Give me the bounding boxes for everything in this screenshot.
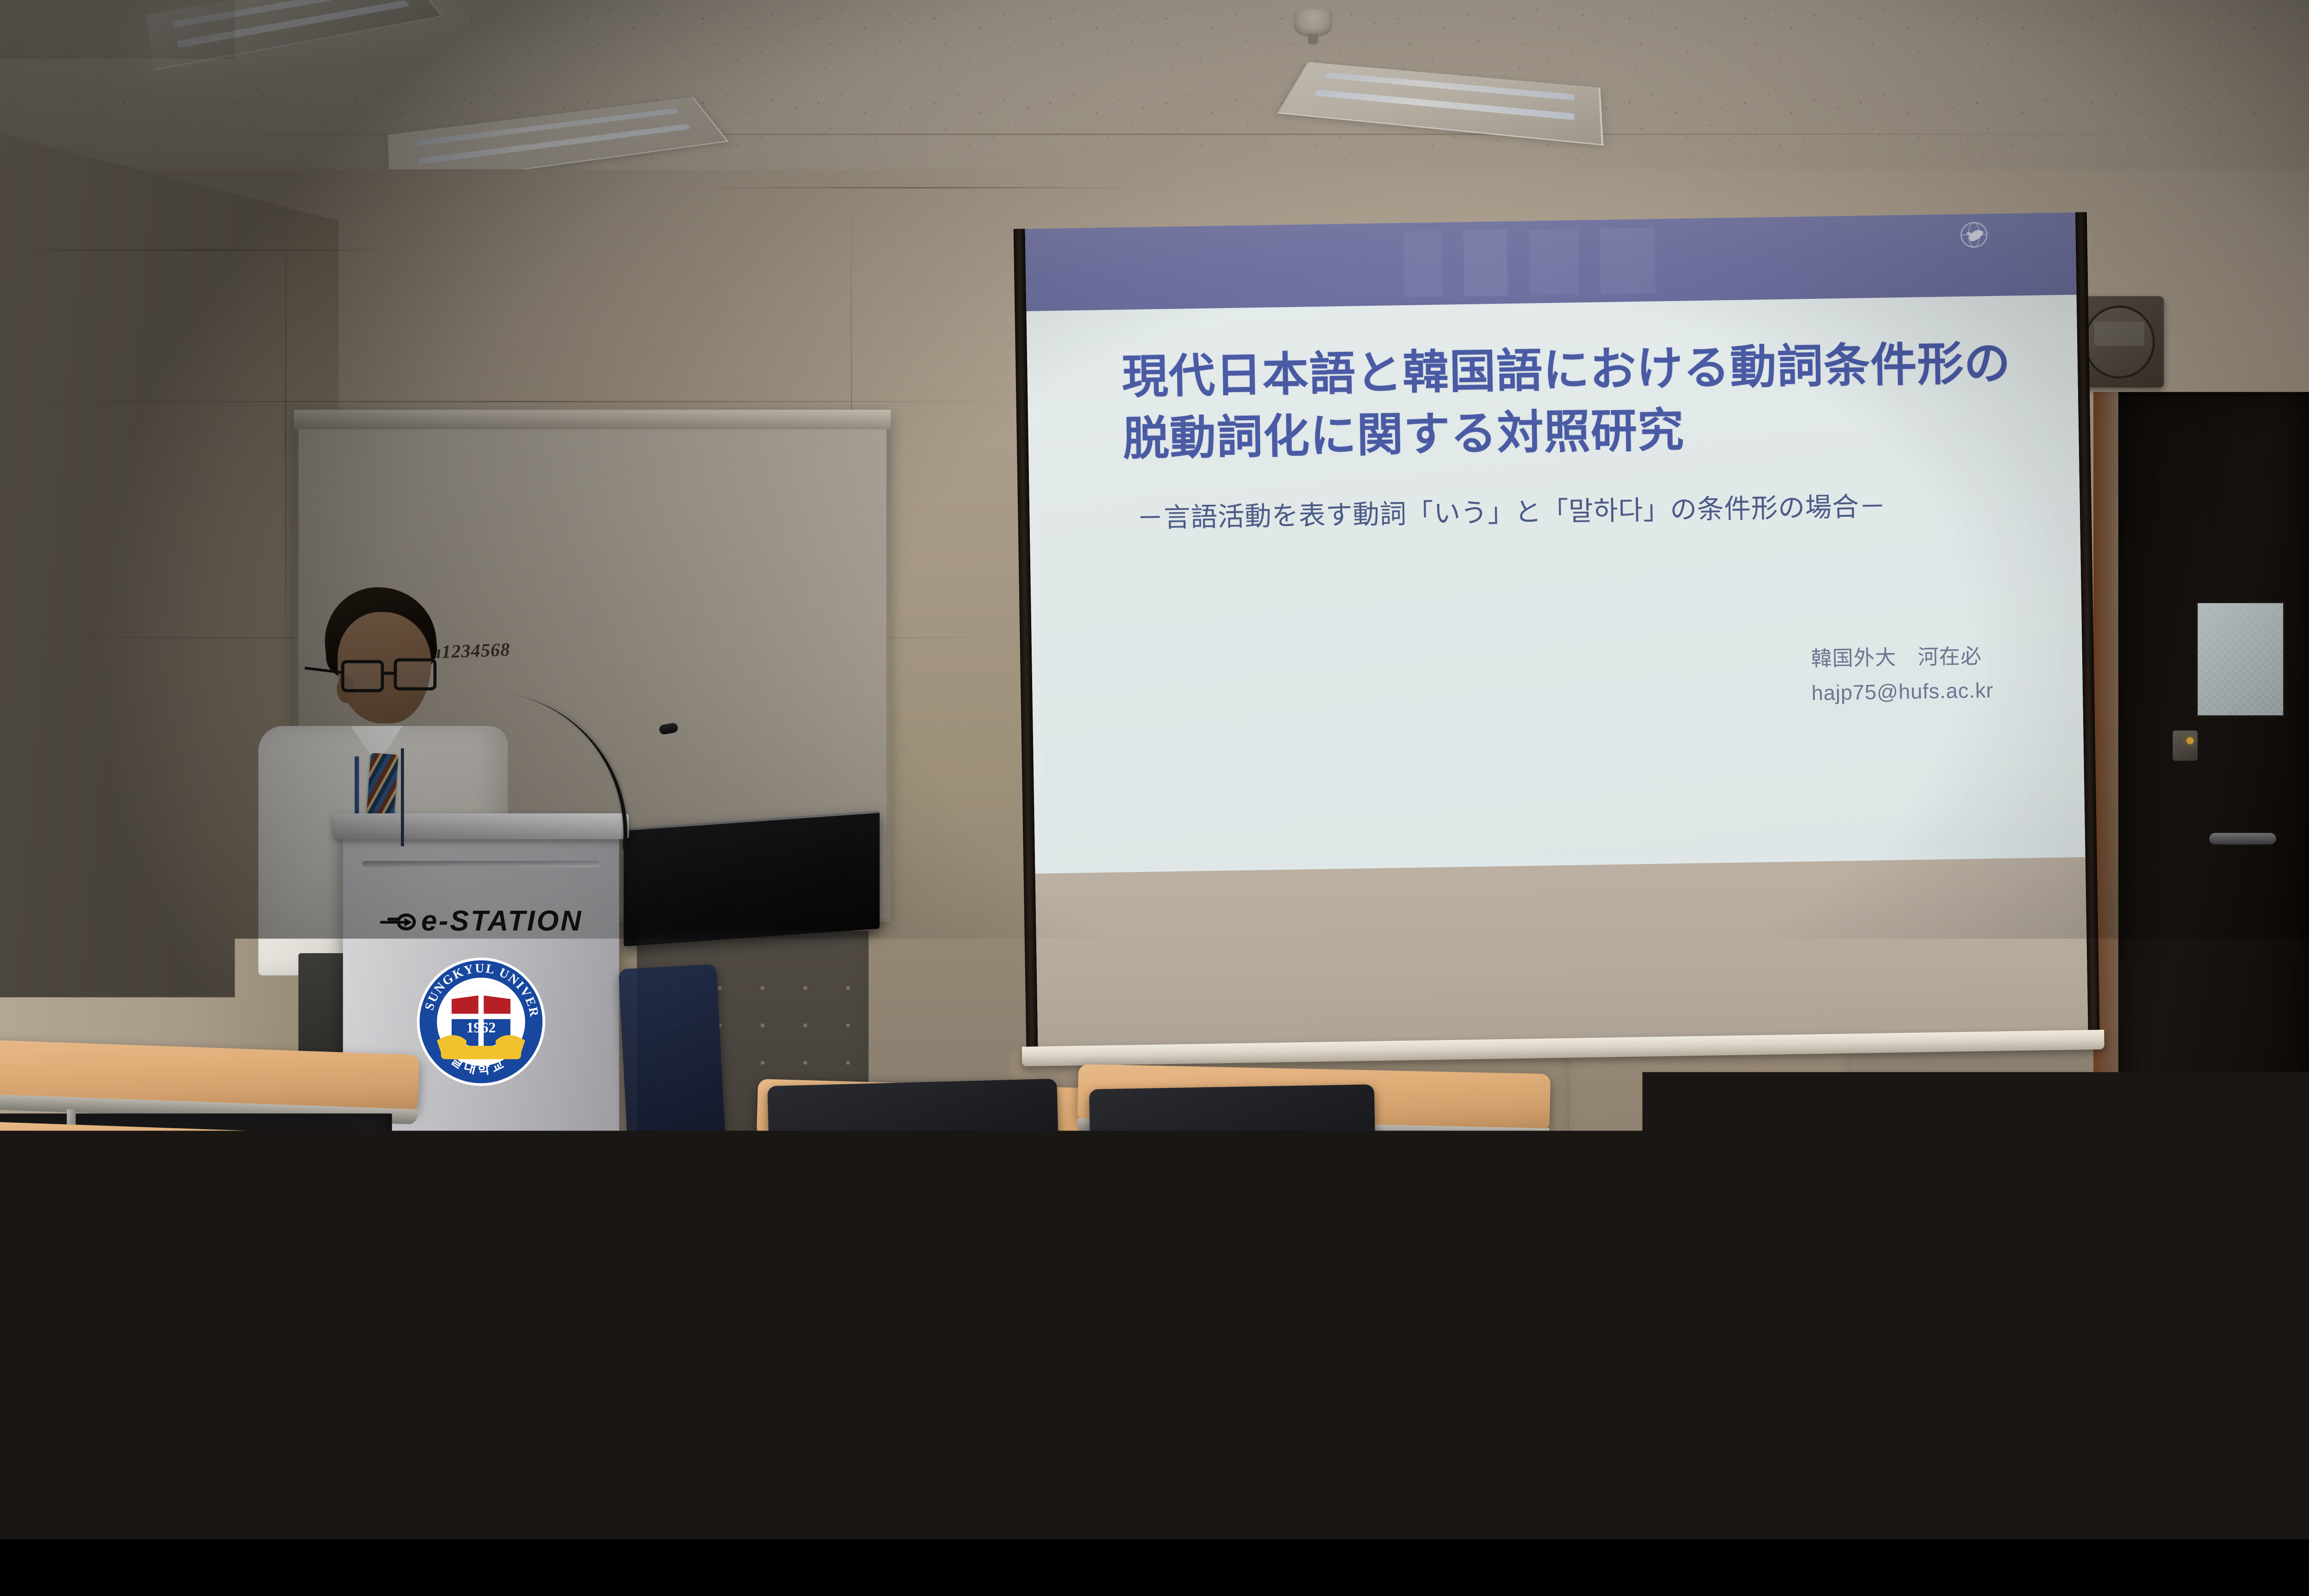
band-texture [1403, 227, 1677, 297]
lecture-room-photo: PW:sku1234568 [0, 0, 2309, 1539]
e-arrow-icon [379, 908, 417, 930]
lectern-brand-label: e-STATION [343, 904, 619, 937]
door-wire-glass-window [2196, 601, 2285, 717]
sprinkler-head [1294, 9, 1332, 36]
chair-backrest [300, 1354, 818, 1539]
classroom-chair[interactable] [300, 1354, 818, 1539]
slide-title: 現代日本語と韓国語における動詞条件形の 脱動詞化に関する対照研究 [1121, 332, 2026, 471]
wall-panel [1568, 1047, 1849, 1256]
slide-email: hajp75@hufs.ac.kr [1811, 673, 1994, 710]
chair-backrest [1089, 1084, 1378, 1339]
iced-coffee-cup[interactable] [548, 1203, 641, 1372]
classroom-chair[interactable] [618, 964, 727, 1170]
control-display [2094, 322, 2144, 345]
desk-surface [2208, 1082, 2309, 1145]
chair-back-slots [833, 1253, 1082, 1430]
lectern-monitor[interactable] [623, 810, 880, 946]
classroom-chair[interactable] [797, 1188, 1118, 1488]
whiteboard-marker-rail [294, 410, 891, 429]
glasses-bridge [384, 671, 393, 675]
lectern-panel-slot [363, 861, 600, 867]
attendee-torso [0, 1229, 62, 1539]
lectern-brand-text: e-STATION [421, 905, 583, 937]
university-crest: SUNGKYUL UNIVERSITY 성결대학교 1962 [414, 955, 548, 1088]
classroom-chair[interactable] [1089, 1084, 1378, 1339]
slide-subtitle: －言語活動を表す動詞「いう」と「말하다」の条件形の場合－ [1136, 487, 2040, 536]
foreground-shadow [2129, 1341, 2309, 1539]
access-card-reader[interactable] [2173, 731, 2198, 761]
status-led [2187, 737, 2194, 744]
projection-screen: 現代日本語と韓国語における動詞条件形の 脱動詞化に関する対照研究 －言語活動を表… [1014, 212, 2100, 1066]
glasses-lens-left [341, 660, 384, 692]
door-frame [2093, 392, 2118, 1265]
cup-dome-lid [548, 1203, 641, 1274]
slide-affiliation: 韓国外大 河在必 [1811, 639, 1993, 676]
chair-back-slots [357, 1395, 760, 1512]
slide-header-band [1025, 212, 2077, 311]
handout-text-lines [130, 1278, 302, 1312]
chair-back-slots [1121, 1140, 1346, 1288]
cup-sleeve [550, 1294, 639, 1372]
student-desk [2208, 1082, 2309, 1145]
projected-slide: 現代日本語と韓国語における動詞条件形の 脱動詞化に関する対照研究 －言語活動を表… [1025, 212, 2085, 874]
door-handle[interactable] [2209, 833, 2276, 845]
chair-backrest [797, 1188, 1118, 1488]
slide-author-block: 韓国外大 河在必 hajp75@hufs.ac.kr [1811, 639, 1994, 710]
screen-unlit-area [1035, 857, 2088, 1049]
globe-logo [1957, 218, 1992, 251]
svg-text:1962: 1962 [466, 1019, 496, 1035]
chair-backrest [618, 964, 727, 1170]
